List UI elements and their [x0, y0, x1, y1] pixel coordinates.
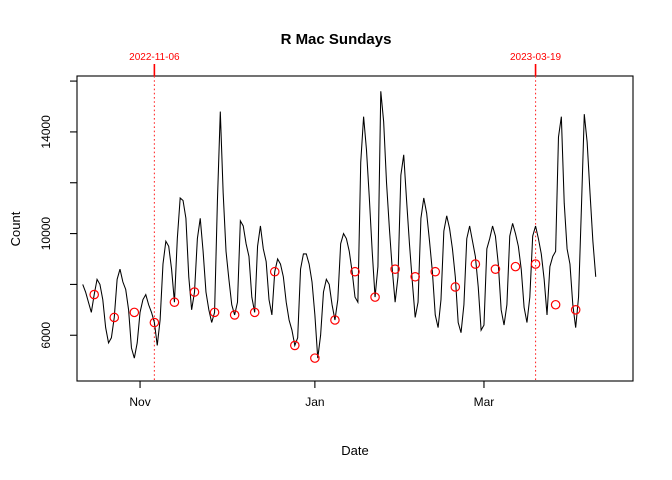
page-title: R Mac Sundays [281, 31, 392, 48]
annotation-labels: 2022-11-062023-03-19 [129, 52, 561, 63]
sunday-marker-point [130, 308, 138, 316]
y-tick-label: 14000 [39, 115, 53, 149]
sunday-marker-point [571, 306, 579, 314]
x-tick-label: Nov [129, 395, 150, 409]
sunday-marker-point [511, 262, 519, 270]
x-axis-ticks [140, 381, 484, 388]
x-axis-title: Date [341, 443, 368, 458]
plot-frame [77, 76, 633, 381]
sunday-marker-point [551, 301, 559, 309]
x-tick-label: Mar [474, 395, 495, 409]
y-axis-title: Count [8, 211, 23, 246]
annotation-label: 2022-11-06 [129, 52, 180, 63]
chart-container: R Mac Sundays Count Date 60001000014000 … [0, 0, 672, 480]
r-plot-canvas: R Mac Sundays Count Date 60001000014000 … [0, 0, 672, 480]
y-tick-label: 10000 [39, 217, 53, 251]
y-axis-ticks [70, 81, 77, 335]
annotation-lines [154, 64, 535, 381]
y-axis-tick-labels: 60001000014000 [39, 115, 53, 349]
x-axis-tick-labels: NovJanMar [129, 395, 494, 409]
x-tick-label: Jan [305, 395, 324, 409]
y-tick-label: 6000 [39, 322, 53, 349]
annotation-label: 2023-03-19 [510, 52, 562, 63]
